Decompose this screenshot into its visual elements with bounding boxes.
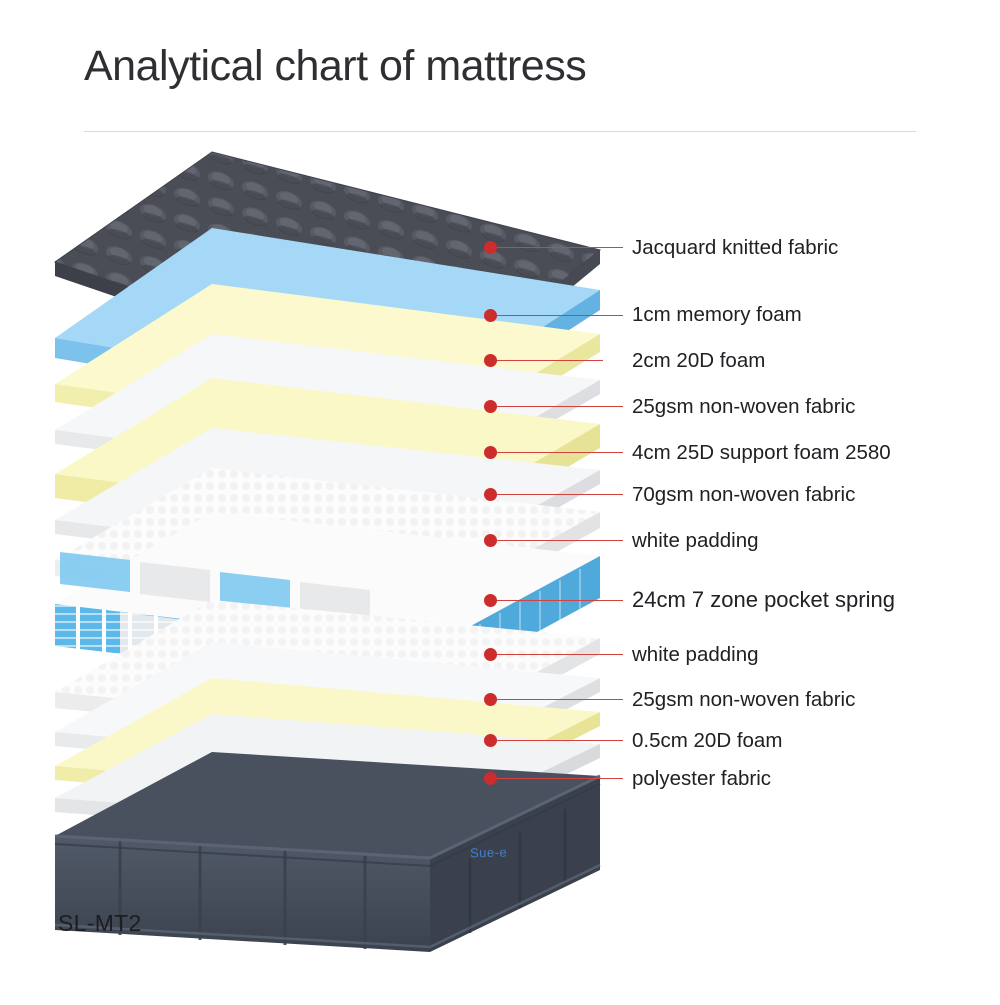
callout-dot-11 xyxy=(484,734,497,747)
callout-line-8 xyxy=(491,600,623,601)
callout-line-4 xyxy=(491,406,623,407)
callout-dot-1 xyxy=(484,241,497,254)
callout-dot-10 xyxy=(484,693,497,706)
callout-dot-5 xyxy=(484,446,497,459)
callout-label-support-foam-25d-4cm: 4cm 25D support foam 2580 xyxy=(632,443,891,464)
callout-line-11 xyxy=(491,740,623,741)
callout-line-10 xyxy=(491,699,623,700)
callout-line-2 xyxy=(491,315,623,316)
callout-label-white-padding-lower: white padding xyxy=(632,645,759,666)
callout-label-foam-20d-05cm: 0.5cm 20D foam xyxy=(632,731,782,752)
callout-label-foam-20d-2cm: 2cm 20D foam xyxy=(632,351,765,372)
callout-label-polyester-fabric: polyester fabric xyxy=(632,769,771,790)
callout-label-nonwoven-25gsm-lower: 25gsm non-woven fabric xyxy=(632,690,855,711)
callout-label-nonwoven-25gsm-upper: 25gsm non-woven fabric xyxy=(632,397,855,418)
callout-dot-2 xyxy=(484,309,497,322)
callout-dot-9 xyxy=(484,648,497,661)
callout-dot-8 xyxy=(484,594,497,607)
callout-line-9 xyxy=(491,654,623,655)
model-code: SL-MT2 xyxy=(58,910,142,937)
callout-line-5 xyxy=(491,452,623,453)
callout-line-7 xyxy=(491,540,623,541)
callout-label-jacquard-knitted-fabric: Jacquard knitted fabric xyxy=(632,238,838,259)
callout-dot-4 xyxy=(484,400,497,413)
callout-label-pocket-spring-24cm: 24cm 7 zone pocket spring xyxy=(632,589,895,611)
callout-dot-12 xyxy=(484,772,497,785)
callout-dot-3 xyxy=(484,354,497,367)
callout-label-memory-foam-1cm: 1cm memory foam xyxy=(632,305,802,326)
callout-label-nonwoven-70gsm: 70gsm non-woven fabric xyxy=(632,485,855,506)
callout-dot-6 xyxy=(484,488,497,501)
callout-line-1 xyxy=(491,247,623,248)
brand-mark: Sue-e xyxy=(470,845,507,861)
callout-line-3 xyxy=(491,360,603,361)
callout-label-white-padding-upper: white padding xyxy=(632,531,759,552)
callout-line-6 xyxy=(491,494,623,495)
callout-dot-7 xyxy=(484,534,497,547)
diagram-page: Analytical chart of mattress xyxy=(0,0,1000,1000)
callout-line-12 xyxy=(491,778,623,779)
